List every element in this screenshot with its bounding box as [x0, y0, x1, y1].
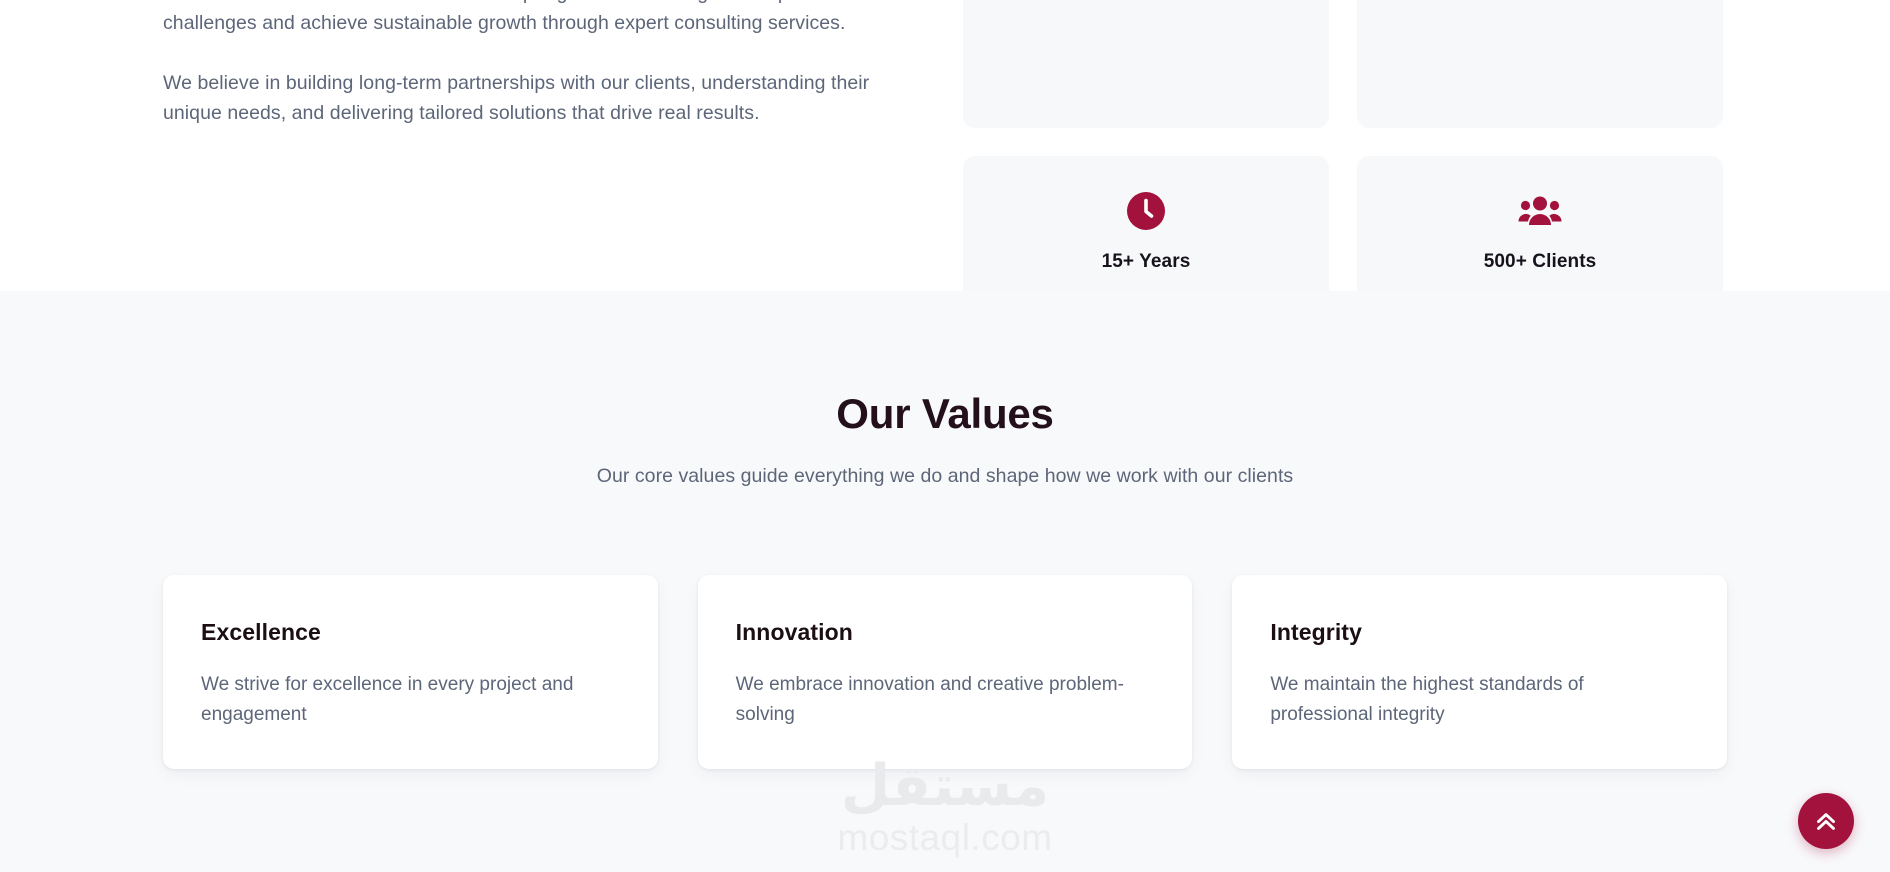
values-header: Our Values Our core values guide everyth… [0, 291, 1890, 488]
value-card-title: Innovation [736, 619, 1155, 646]
users-icon [1518, 189, 1562, 233]
value-card-title: Excellence [201, 619, 620, 646]
clock-icon [1124, 189, 1168, 233]
stat-card-clipped-2 [1357, 0, 1723, 128]
about-copy-column: innovative solutions. Our mission is to … [163, 0, 903, 128]
about-content-row: innovative solutions. Our mission is to … [163, 0, 1733, 291]
stats-grid: 15+ Years 500+ Clients [963, 0, 1723, 291]
value-card-integrity[interactable]: Integrity We maintain the highest standa… [1232, 575, 1727, 769]
stat-card-clipped-1 [963, 0, 1329, 128]
value-card-innovation[interactable]: Innovation We embrace innovation and cre… [698, 575, 1193, 769]
value-card-description: We embrace innovation and creative probl… [736, 670, 1155, 730]
about-paragraph-2: We believe in building long-term partner… [163, 68, 903, 128]
stat-card-clients: 500+ Clients [1357, 156, 1723, 291]
about-paragraph-1: innovative solutions. Our mission is to … [163, 0, 903, 38]
value-card-description: We strive for excellence in every projec… [201, 670, 620, 730]
stat-label-clients: 500+ Clients [1484, 251, 1597, 273]
chevron-double-up-icon [1813, 808, 1839, 834]
values-card-grid: Excellence We strive for excellence in e… [163, 575, 1727, 769]
scroll-to-top-button[interactable] [1798, 793, 1854, 849]
value-card-description: We maintain the highest standards of pro… [1270, 670, 1689, 730]
about-section: innovative solutions. Our mission is to … [0, 0, 1890, 291]
values-subtitle: Our core values guide everything we do a… [0, 465, 1890, 488]
stat-label-years: 15+ Years [1102, 251, 1191, 273]
value-card-excellence[interactable]: Excellence We strive for excellence in e… [163, 575, 658, 769]
value-card-title: Integrity [1270, 619, 1689, 646]
values-section: Our Values Our core values guide everyth… [0, 291, 1890, 872]
values-title: Our Values [0, 390, 1890, 438]
stat-card-years: 15+ Years [963, 156, 1329, 291]
